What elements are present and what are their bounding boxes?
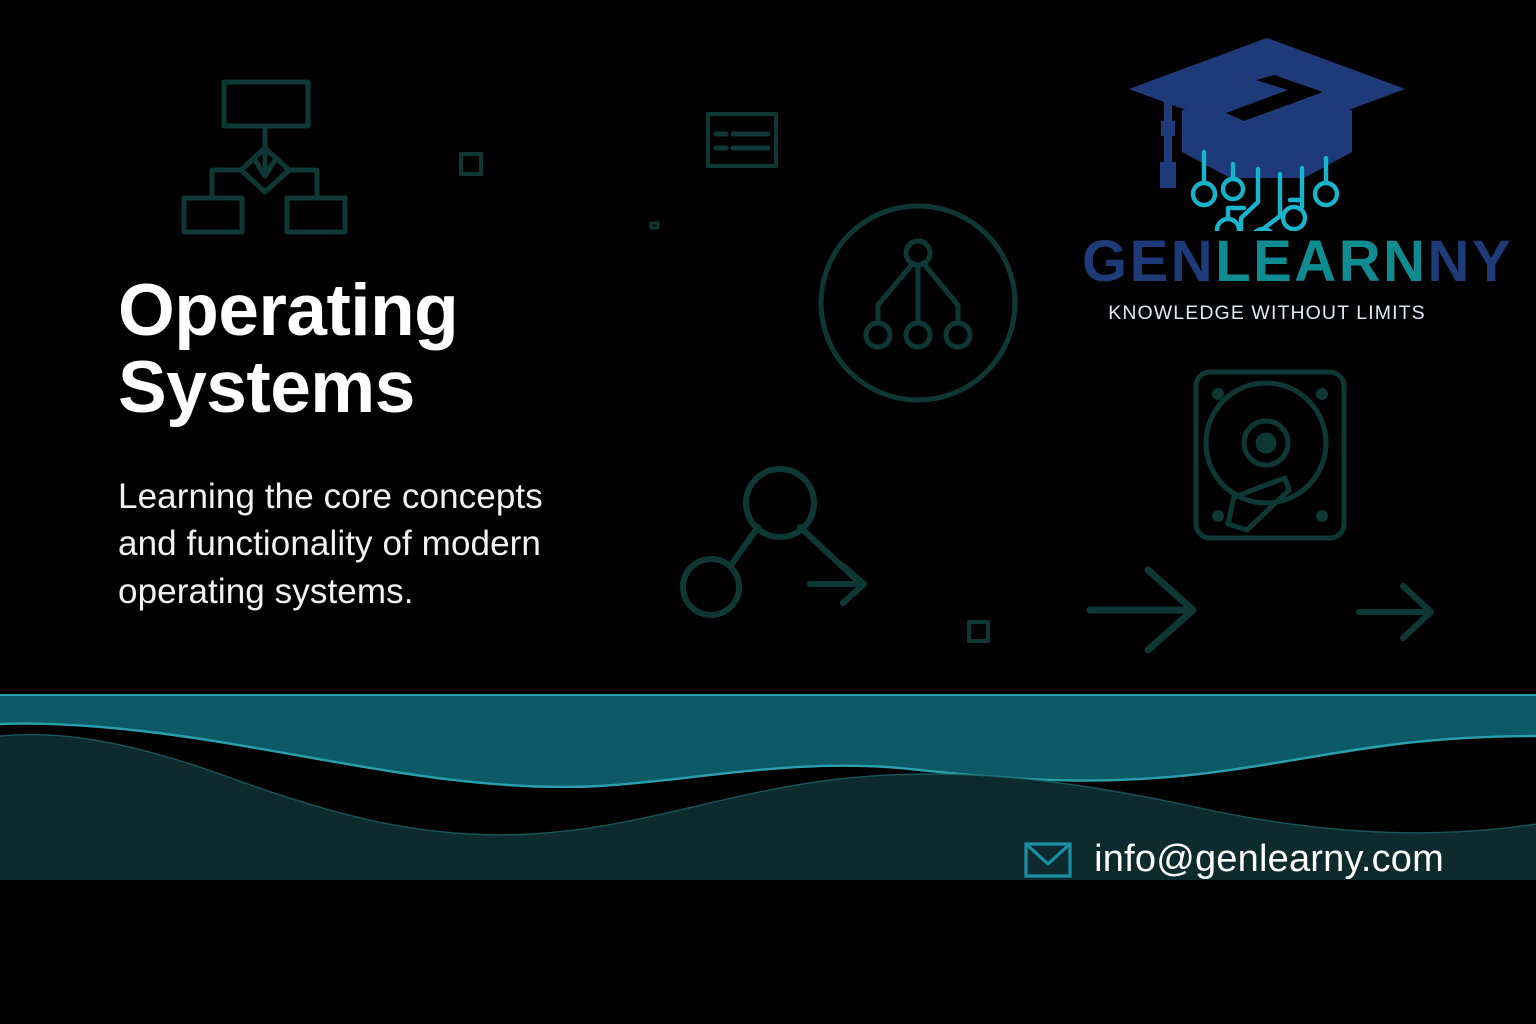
logo-tagline: KNOWLEDGE WITHOUT LIMITS xyxy=(1082,302,1452,325)
tiny-dot-icon xyxy=(651,223,658,228)
small-square-icon xyxy=(461,154,481,174)
course-subtitle: Learning the core concepts and functiona… xyxy=(118,473,758,616)
course-text-block: Operating Systems Learning the core conc… xyxy=(118,272,758,616)
arrow-small-icon xyxy=(1359,586,1431,638)
network-tree-circle-icon xyxy=(821,206,1015,400)
envelope-icon xyxy=(1024,842,1072,878)
contact-email-text: info@genlearny.com xyxy=(1094,838,1444,881)
list-document-icon xyxy=(708,114,776,166)
small-square-icon-2 xyxy=(969,622,988,641)
flowchart-icon xyxy=(184,82,345,232)
page-title: Operating Systems xyxy=(118,272,758,427)
hard-disk-icon xyxy=(1196,372,1344,538)
wave-primary xyxy=(0,694,1536,787)
contact-email-row[interactable]: info@genlearny.com xyxy=(1024,838,1444,881)
logo-wordmark-learn: LEARN xyxy=(1215,229,1427,294)
logo-wordmark-gen: GEN xyxy=(1082,229,1215,294)
logo-wordmark-ny: NY xyxy=(1427,229,1513,294)
slide-canvas: Operating Systems Learning the core conc… xyxy=(0,0,1536,1024)
graduation-cap-circuit-icon xyxy=(1122,26,1412,231)
arrow-large-icon xyxy=(1090,570,1193,650)
brand-logo[interactable]: GENLEARNNY KNOWLEDGE WITHOUT LIMITS xyxy=(1082,26,1452,325)
logo-wordmark: GENLEARNNY xyxy=(1082,233,1452,291)
